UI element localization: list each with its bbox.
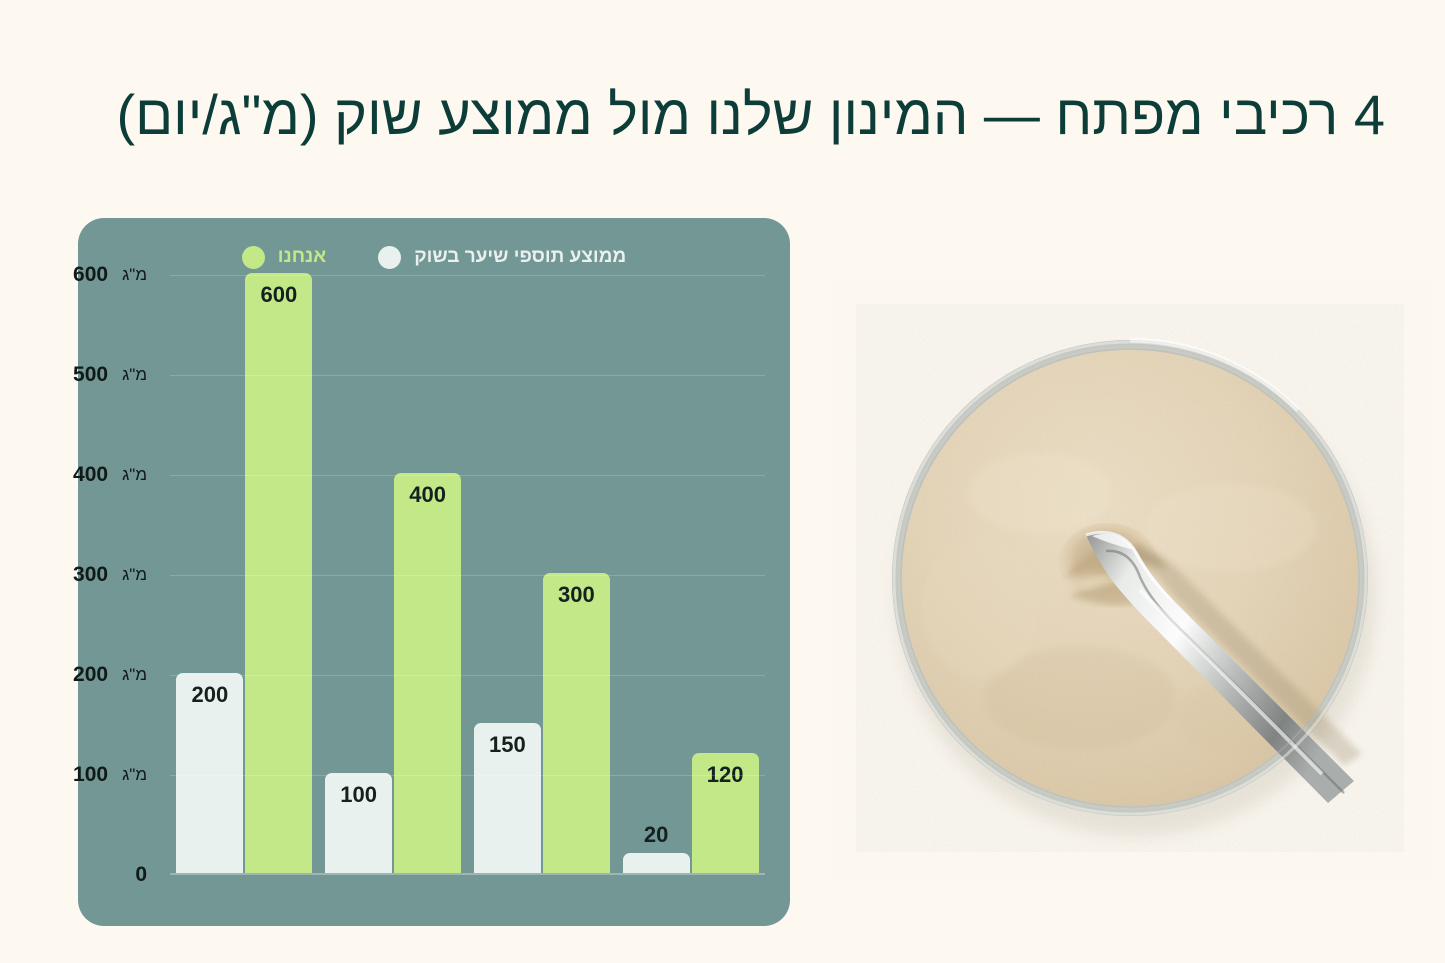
grid-line [170,575,765,576]
y-axis-tick-value: 500 [73,363,108,387]
bar-value-label: 150 [489,732,526,758]
y-axis-tick-value: 400 [73,463,108,487]
y-axis-tick-unit: מ"ג [122,665,147,685]
petri-dish-photo [830,278,1434,882]
poster-canvas: 4 רכיבי מפתח — המינון שלנו מול ממוצע שוק… [0,0,1445,963]
y-axis-tick-value: 200 [73,663,108,687]
grid-line [170,775,765,776]
circle-icon [242,246,265,269]
grid-line [170,275,765,276]
bar-value-label: 100 [340,782,377,808]
circle-icon [378,246,401,269]
bar-value-label: 400 [409,482,446,508]
bar-group: 150300 [474,275,610,873]
bar[interactable]: 150 [474,723,541,873]
bar-group: 100400 [325,275,461,873]
grid-line [170,675,765,676]
y-axis-tick-value: 0 [135,863,147,887]
chart-legend: אנחנו ממוצע תוספי שיער בשוק [78,236,790,278]
y-axis-tick-unit: מ"ג [122,565,147,585]
y-axis-tick-value: 100 [73,763,108,787]
y-axis-tick: 100מ"ג [73,763,147,787]
y-axis-tick: 200מ"ג [73,663,147,687]
bar-groups: 20060010040015030020120 [170,275,765,873]
legend-item-label: ממוצע תוספי שיער בשוק [414,246,626,268]
page-title: 4 רכיבי מפתח — המינון שלנו מול ממוצע שוק… [55,78,1385,152]
legend-item-ours[interactable]: אנחנו [242,246,326,269]
y-axis-tick-unit: מ"ג [122,465,147,485]
bar[interactable]: 120 [692,753,759,873]
bar[interactable]: 600 [245,273,312,873]
legend-item-market-average[interactable]: ממוצע תוספי שיער בשוק [378,246,626,269]
bar[interactable]: 200 [176,673,243,873]
bar-value-label: 600 [261,282,298,308]
axis-baseline [170,873,765,875]
grid-line [170,375,765,376]
bar[interactable]: 20 [623,853,690,873]
bar[interactable]: 400 [394,473,461,873]
y-axis-tick: 400מ"ג [73,463,147,487]
y-axis-tick: 0 [135,863,147,887]
bar-value-label: 20 [644,822,668,848]
y-axis-tick: 600מ"ג [73,263,147,287]
y-axis-tick-unit: מ"ג [122,265,147,285]
bar[interactable]: 100 [325,773,392,873]
bar-group: 20120 [623,275,759,873]
plot-area: 20060010040015030020120 600מ"ג500מ"ג400מ… [153,275,765,875]
y-axis-tick-unit: מ"ג [122,365,147,385]
y-axis-tick: 500מ"ג [73,363,147,387]
bar-value-label: 200 [192,682,229,708]
grid-line [170,475,765,476]
legend-item-label: אנחנו [278,246,326,268]
y-axis-tick-unit: מ"ג [122,765,147,785]
y-axis-tick-value: 600 [73,263,108,287]
y-axis-tick: 300מ"ג [73,563,147,587]
bar-group: 200600 [176,275,312,873]
bar[interactable]: 300 [543,573,610,873]
bar-value-label: 300 [558,582,595,608]
chart-card: אנחנו ממוצע תוספי שיער בשוק 200600100400… [78,218,790,926]
y-axis-tick-value: 300 [73,563,108,587]
